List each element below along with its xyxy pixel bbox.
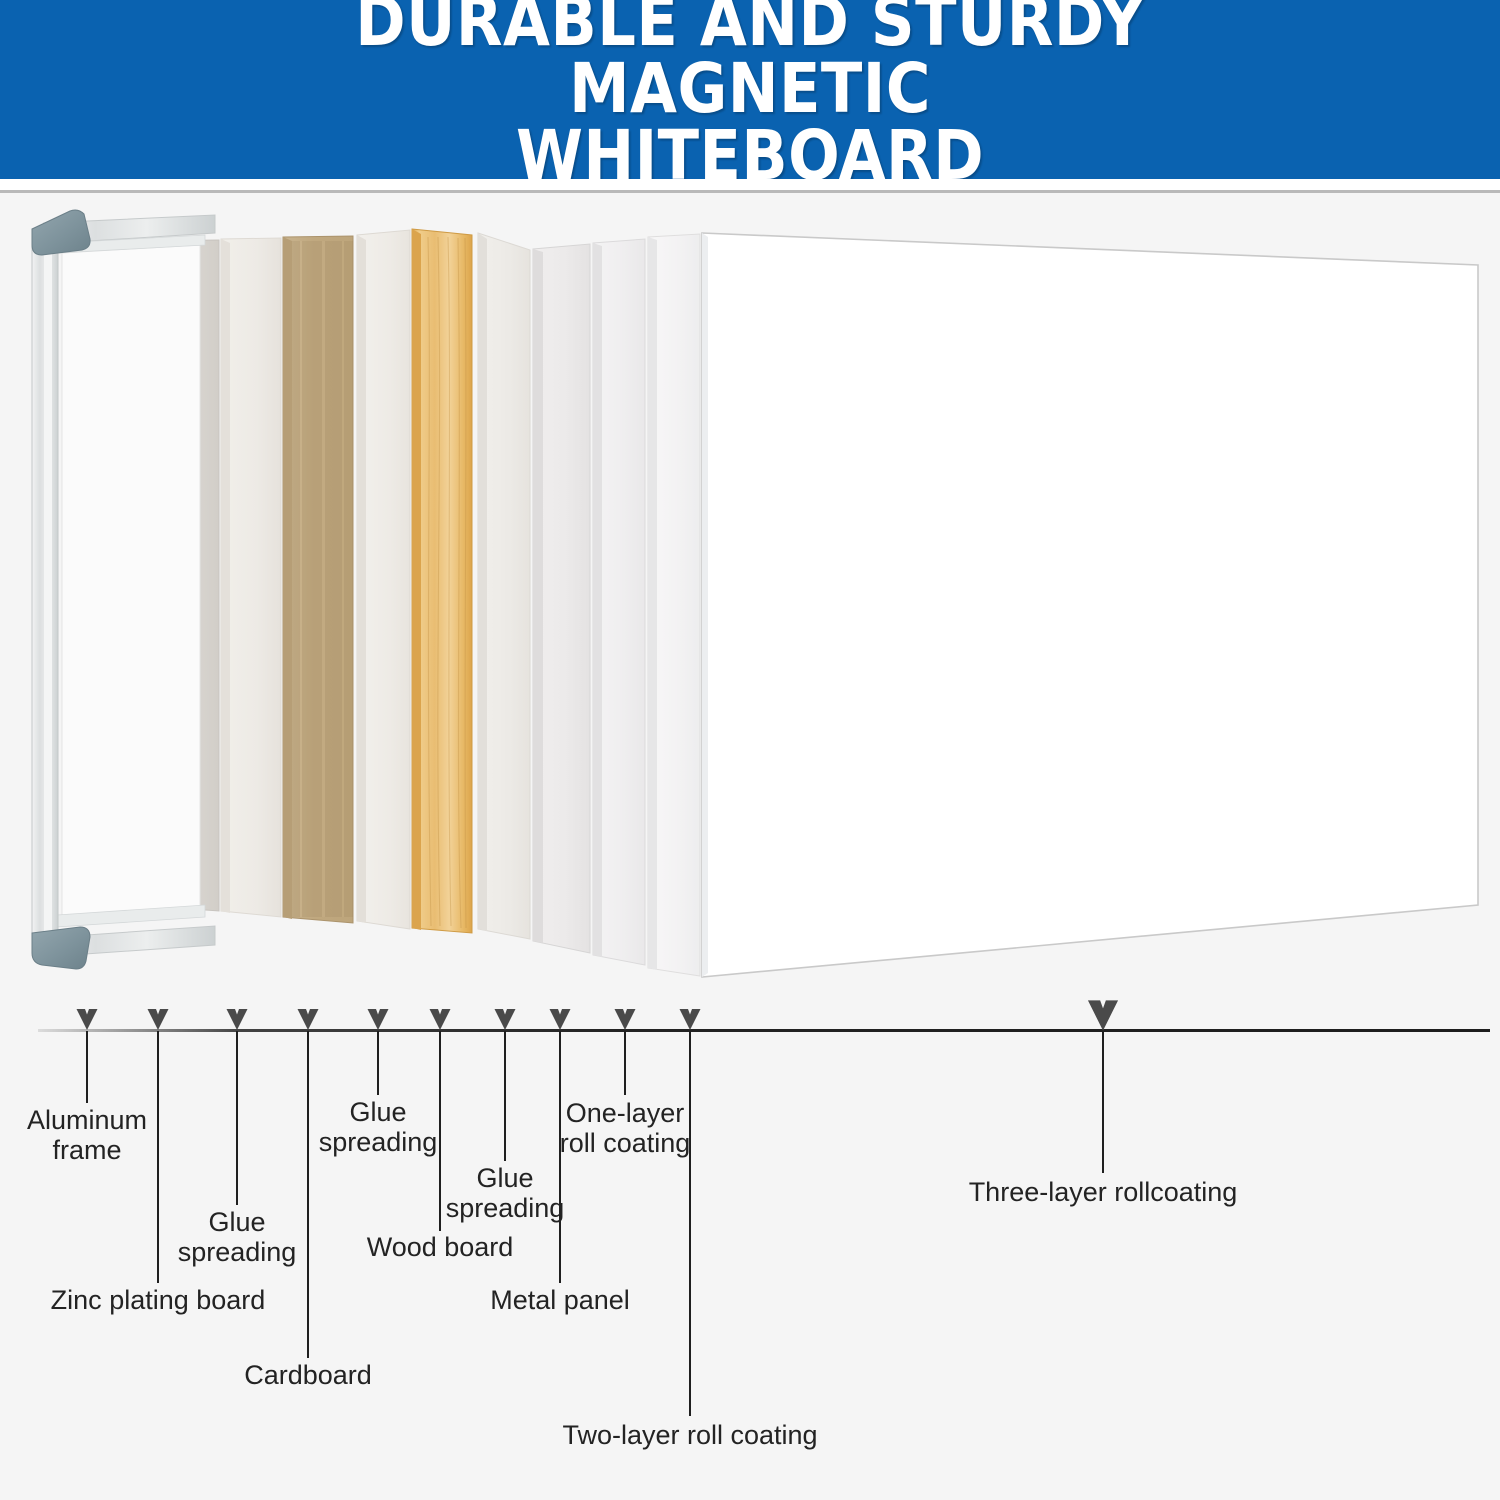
callout-label-glue-spreading-3: Glue spreading	[446, 1163, 565, 1223]
page-title: DURABLE AND STURDY MAGNETIC WHITEBOARD	[165, 0, 1335, 190]
callout-leader-line	[157, 1031, 159, 1283]
chevron-down-icon	[613, 1008, 637, 1031]
layer-glue-spreading-2	[357, 230, 410, 929]
frame-corner-cap-bottom	[32, 927, 90, 969]
callout-leader-line	[624, 1031, 626, 1095]
callout-label-cardboard: Cardboard	[244, 1360, 372, 1390]
header-banner: DURABLE AND STURDY MAGNETIC WHITEBOARD	[0, 0, 1500, 179]
callout-diagram: Aluminum frameZinc plating boardGlue spr…	[0, 1000, 1500, 1500]
callout-label-glue-spreading-2: Glue spreading	[319, 1097, 438, 1157]
callout-leader-line	[236, 1031, 238, 1205]
layer-two-layer-roll-coating	[648, 234, 700, 976]
callout-label-wood-board: Wood board	[367, 1232, 514, 1262]
callout-label-one-layer-roll-coating: One-layer roll coating	[560, 1098, 691, 1158]
chevron-down-icon	[678, 1008, 702, 1031]
callout-label-zinc-plating-board: Zinc plating board	[51, 1285, 266, 1315]
callout-leader-line	[1102, 1031, 1104, 1173]
layer-aluminum-frame	[32, 210, 215, 969]
chevron-down-icon	[493, 1008, 517, 1031]
chevron-down-icon	[548, 1008, 572, 1031]
layer-metal-panel	[533, 244, 590, 953]
chevron-down-icon	[225, 1008, 249, 1031]
callout-label-aluminum-frame: Aluminum frame	[27, 1105, 147, 1165]
product-infographic: DURABLE AND STURDY MAGNETIC WHITEBOARD	[0, 0, 1500, 1500]
callout-leader-line	[377, 1031, 379, 1095]
layer-cardboard	[283, 236, 353, 923]
chevron-down-icon	[296, 1008, 320, 1031]
callout-leader-line	[689, 1031, 691, 1416]
chevron-down-icon	[1082, 999, 1124, 1032]
frame-corner-cap-top	[32, 210, 90, 255]
chevron-down-icon	[146, 1008, 170, 1031]
callout-label-glue-spreading-1: Glue spreading	[178, 1207, 297, 1267]
layer-wood-board	[412, 229, 472, 933]
whiteboard-exploded-illustration	[0, 193, 1500, 1000]
chevron-down-icon	[366, 1008, 390, 1031]
layer-three-layer-rollcoating	[702, 233, 1478, 977]
callout-baseline-rule	[38, 1029, 1490, 1032]
layer-glue-spreading-1	[221, 238, 281, 917]
callout-leader-line	[504, 1031, 506, 1161]
exploded-layers-svg	[0, 193, 1500, 1000]
callout-label-metal-panel: Metal panel	[490, 1285, 630, 1315]
callout-label-two-layer-roll-coating: Two-layer roll coating	[562, 1420, 817, 1450]
chevron-down-icon	[75, 1008, 99, 1031]
layer-one-layer-roll-coating	[593, 239, 645, 965]
callout-leader-line	[307, 1031, 309, 1358]
chevron-down-icon	[428, 1008, 452, 1031]
callout-leader-line	[439, 1031, 441, 1231]
callout-label-three-layer-rollcoating: Three-layer rollcoating	[969, 1177, 1238, 1207]
layer-glue-spreading-3	[478, 233, 530, 939]
callout-leader-line	[86, 1031, 88, 1103]
